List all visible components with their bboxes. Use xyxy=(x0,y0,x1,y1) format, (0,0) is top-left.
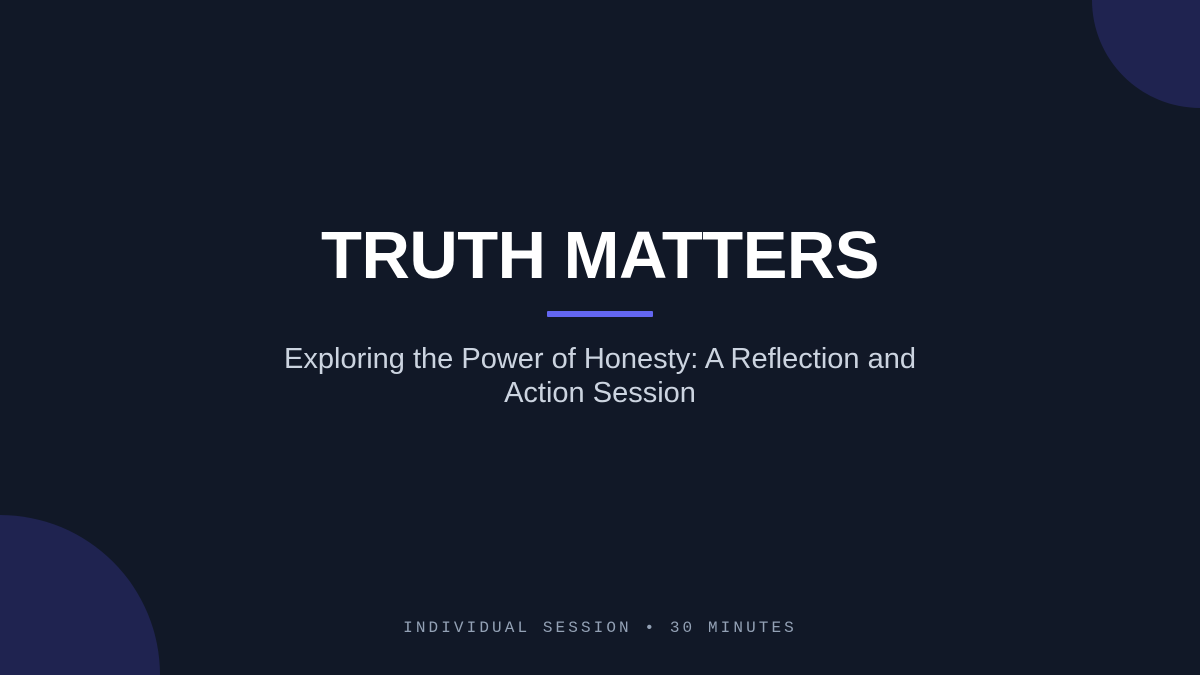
accent-divider-rule xyxy=(547,311,653,317)
title-slide: TRUTH MATTERS Exploring the Power of Hon… xyxy=(0,0,1200,675)
slide-content-stack: TRUTH MATTERS Exploring the Power of Hon… xyxy=(0,0,1200,675)
slide-subtitle: Exploring the Power of Honesty: A Reflec… xyxy=(250,343,950,410)
slide-footer: INDIVIDUAL SESSION • 30 MINUTES xyxy=(0,619,1200,637)
session-meta-text: INDIVIDUAL SESSION • 30 MINUTES xyxy=(403,619,797,637)
slide-title: TRUTH MATTERS xyxy=(321,222,879,289)
